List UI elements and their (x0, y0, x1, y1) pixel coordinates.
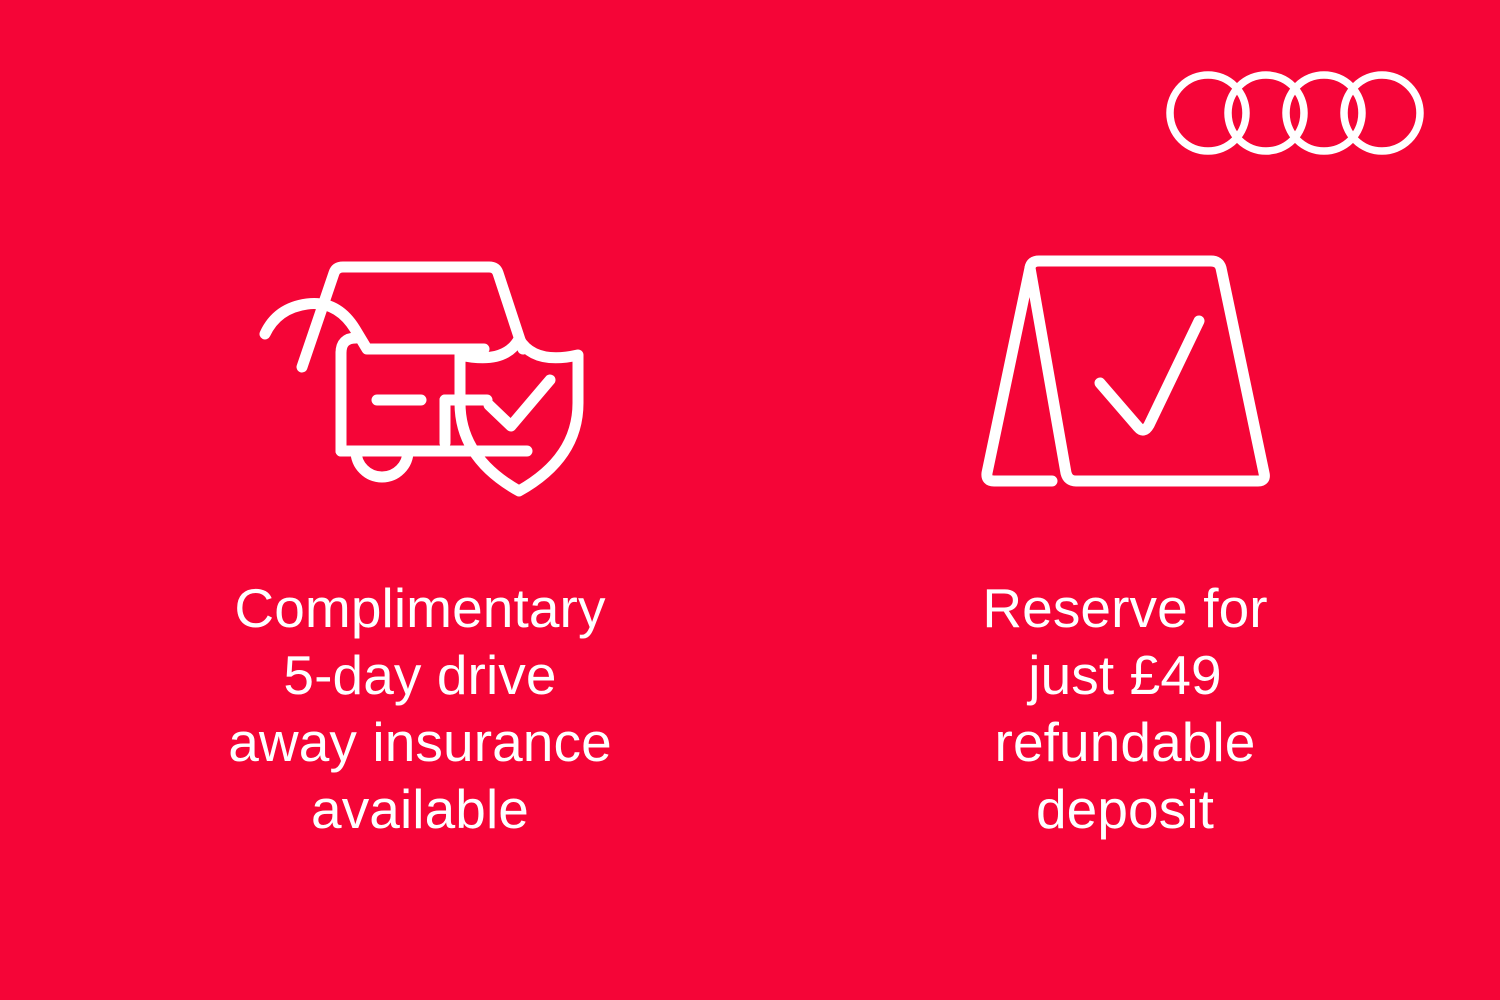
car-shield-insurance-icon (255, 250, 585, 500)
audi-four-rings-icon (1166, 64, 1428, 162)
feature-deposit-caption: Reserve for just £49 refundable deposit (982, 575, 1267, 843)
feature-insurance: Complimentary 5-day drive away insurance… (160, 250, 680, 843)
feature-deposit: Reserve for just £49 refundable deposit (865, 250, 1385, 843)
promo-panel: Complimentary 5-day drive away insurance… (0, 0, 1500, 1000)
folded-card-check-icon (975, 250, 1275, 500)
feature-insurance-caption: Complimentary 5-day drive away insurance… (228, 575, 612, 843)
